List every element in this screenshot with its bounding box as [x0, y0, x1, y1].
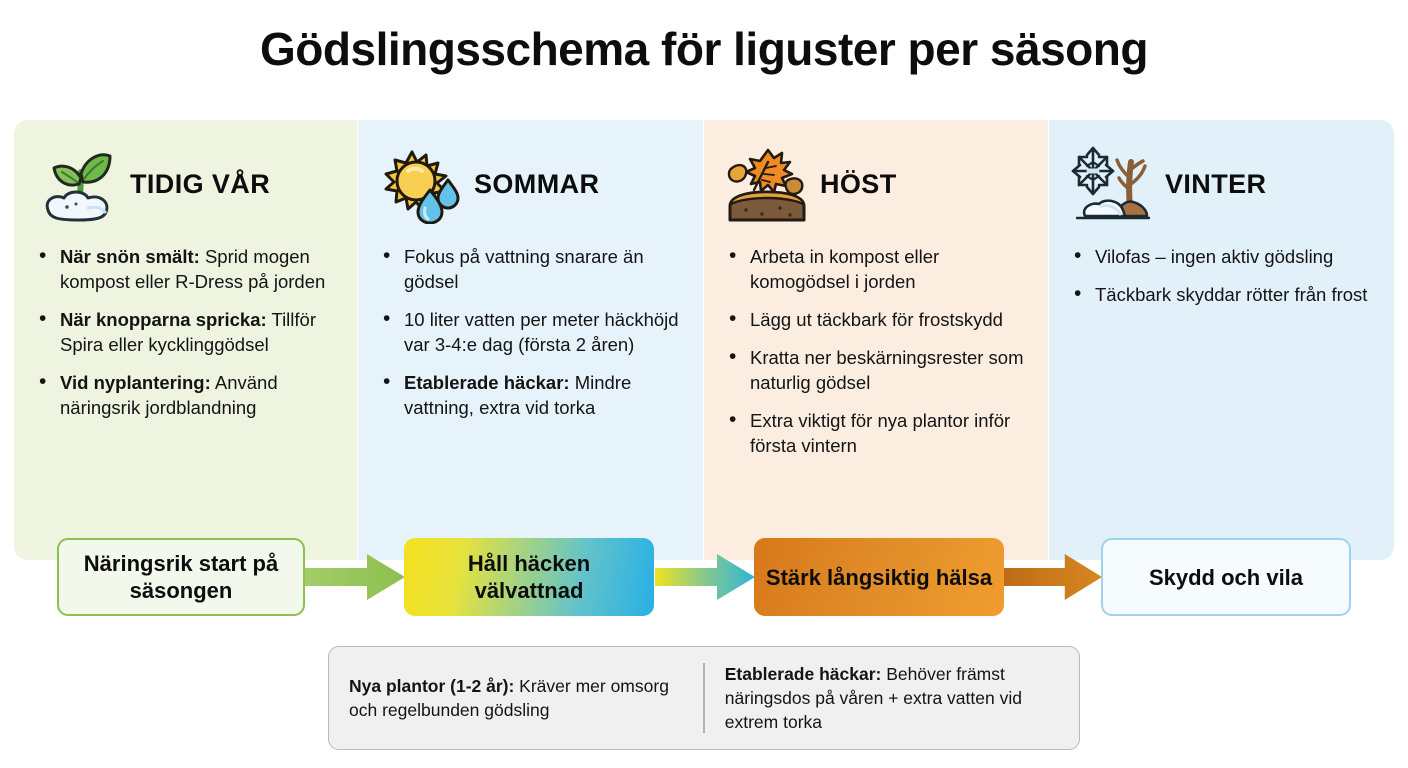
flow-banner-autumn[interactable]: Stärk långsiktig hälsa	[754, 538, 1004, 616]
list-item: Kratta ner beskärningsrester som naturli…	[746, 345, 1028, 395]
list-item: Vid nyplantering: Använd näringsrik jord…	[56, 370, 337, 420]
arrow-summer-to-autumn	[655, 552, 755, 602]
season-header-summer: SOMMAR	[378, 138, 683, 230]
snowflake-bare-tree-icon	[1069, 144, 1155, 224]
bullet-lead: Etablerade häckar:	[404, 372, 570, 393]
season-flow-row: Näringsrik start på säsongen Håll häcken…	[0, 538, 1408, 618]
season-bullets-winter: Vilofas – ingen aktiv gödsling Täckbark …	[1069, 244, 1374, 307]
bullet-lead: Vid nyplantering:	[60, 372, 211, 393]
bullet-text: Arbeta in kompost eller komogödsel i jor…	[750, 246, 939, 292]
season-panels: TIDIG VÅR När snön smält: Sprid mogen ko…	[14, 120, 1394, 560]
bullet-lead: När knopparna spricka:	[60, 309, 267, 330]
season-header-spring: TIDIG VÅR	[34, 138, 337, 230]
footer-note: Nya plantor (1-2 år): Kräver mer omsorg …	[328, 646, 1080, 750]
season-header-autumn: HÖST	[724, 138, 1028, 230]
flow-banner-winter[interactable]: Skydd och vila	[1101, 538, 1351, 616]
footer-note-left: Nya plantor (1-2 år): Kräver mer omsorg …	[329, 674, 703, 722]
arrow-spring-to-summer	[305, 552, 405, 602]
bullet-text: Vilofas – ingen aktiv gödsling	[1095, 246, 1333, 267]
season-title-autumn: HÖST	[820, 169, 897, 200]
season-panel-spring: TIDIG VÅR När snön smält: Sprid mogen ko…	[14, 120, 357, 560]
list-item: Fokus på vattning snarare än gödsel	[400, 244, 683, 294]
bullet-text: Fokus på vattning snarare än gödsel	[404, 246, 644, 292]
seedling-in-snow-icon	[34, 144, 120, 224]
flow-banner-spring[interactable]: Näringsrik start på säsongen	[57, 538, 305, 616]
list-item: Etablerade häckar: Mindre vattning, extr…	[400, 370, 683, 420]
season-panel-autumn: HÖST Arbeta in kompost eller komogödsel …	[704, 120, 1048, 560]
season-bullets-spring: När snön smält: Sprid mogen kompost elle…	[34, 244, 337, 420]
list-item: När snön smält: Sprid mogen kompost elle…	[56, 244, 337, 294]
season-header-winter: VINTER	[1069, 138, 1374, 230]
season-title-winter: VINTER	[1165, 169, 1266, 200]
flow-banner-summer[interactable]: Håll häcken välvattnad	[404, 538, 654, 616]
footer-right-lead: Etablerade häckar:	[725, 664, 882, 684]
sun-with-water-drops-icon	[378, 144, 464, 224]
list-item: Arbeta in kompost eller komogödsel i jor…	[746, 244, 1028, 294]
bullet-lead: När snön smält:	[60, 246, 200, 267]
season-title-summer: SOMMAR	[474, 169, 599, 200]
footer-note-right: Etablerade häckar: Behöver främst näring…	[705, 662, 1079, 734]
season-panel-summer: SOMMAR Fokus på vattning snarare än göds…	[358, 120, 703, 560]
bullet-text: Kratta ner beskärningsrester som naturli…	[750, 347, 1024, 393]
list-item: 10 liter vatten per meter häckhöjd var 3…	[400, 307, 683, 357]
list-item: Täckbark skyddar rötter från frost	[1091, 282, 1374, 307]
bullet-text: Extra viktigt för nya plantor inför förs…	[750, 410, 1010, 456]
bullet-text: Lägg ut täckbark för frostskydd	[750, 309, 1003, 330]
list-item: När knopparna spricka: Tillför Spira ell…	[56, 307, 337, 357]
season-bullets-autumn: Arbeta in kompost eller komogödsel i jor…	[724, 244, 1028, 458]
season-bullets-summer: Fokus på vattning snarare än gödsel 10 l…	[378, 244, 683, 420]
footer-left-lead: Nya plantor (1-2 år):	[349, 676, 514, 696]
season-panel-winter: VINTER Vilofas – ingen aktiv gödsling Tä…	[1049, 120, 1394, 560]
falling-leaves-on-soil-icon	[724, 144, 810, 224]
page-title: Gödslingsschema för liguster per säsong	[0, 22, 1408, 76]
arrow-autumn-to-winter	[1004, 552, 1102, 602]
list-item: Extra viktigt för nya plantor inför förs…	[746, 408, 1028, 458]
list-item: Lägg ut täckbark för frostskydd	[746, 307, 1028, 332]
season-title-spring: TIDIG VÅR	[130, 169, 270, 200]
bullet-text: Täckbark skyddar rötter från frost	[1095, 284, 1367, 305]
list-item: Vilofas – ingen aktiv gödsling	[1091, 244, 1374, 269]
bullet-text: 10 liter vatten per meter häckhöjd var 3…	[404, 309, 679, 355]
infographic-root: Gödslingsschema för liguster per säsong	[0, 0, 1408, 768]
